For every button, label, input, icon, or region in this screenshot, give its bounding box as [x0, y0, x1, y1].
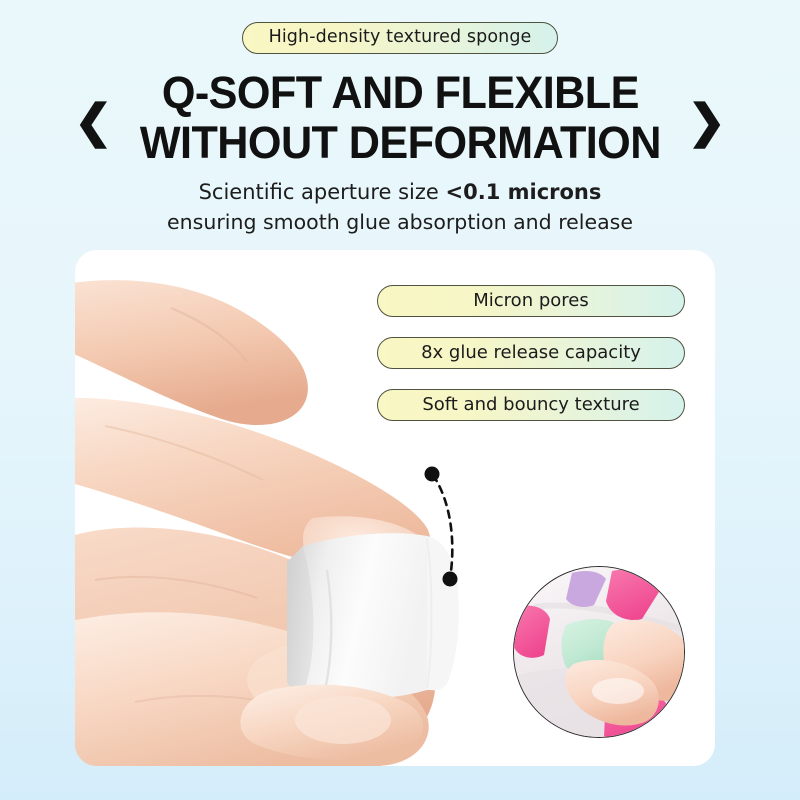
feature-pill-label: Micron pores [473, 292, 588, 310]
thumb-over-sponge-highlight [295, 696, 391, 744]
subtitle-line-2: ensuring smooth glue absorption and rele… [0, 208, 800, 237]
feature-pill-list: Micron pores 8x glue release capacity So… [377, 285, 685, 441]
inset-sponge-in-hand-photo [514, 567, 684, 737]
chevron-left-icon: ❮ [74, 98, 113, 144]
headline-block: ❮ Q-SOFT AND FLEXIBLE WITHOUT DEFORMATIO… [0, 68, 800, 169]
sponge-front-face [301, 533, 427, 700]
subtitle: Scientific aperture size <0.1 microns en… [0, 178, 800, 237]
feature-pill-label: Soft and bouncy texture [422, 396, 639, 414]
feature-pill-micron-pores: Micron pores [377, 285, 685, 317]
feature-pill-glue-release: 8x glue release capacity [377, 337, 685, 369]
headline-line-1: Q-SOFT AND FLEXIBLE [140, 68, 661, 118]
curvature-indicator-arc [415, 460, 485, 600]
subtitle-line-1: Scientific aperture size <0.1 microns [0, 178, 800, 208]
page-title: Q-SOFT AND FLEXIBLE WITHOUT DEFORMATION [140, 68, 661, 169]
feature-pill-soft-bouncy: Soft and bouncy texture [377, 389, 685, 421]
product-badge: High-density textured sponge [242, 22, 559, 54]
headline-line-2: WITHOUT DEFORMATION [140, 118, 661, 168]
feature-pill-label: 8x glue release capacity [421, 344, 641, 362]
subtitle-emphasis: <0.1 microns [446, 180, 602, 204]
inset-finger-highlight [592, 678, 644, 704]
badge-row: High-density textured sponge [0, 22, 800, 54]
arc-dashed-line [433, 475, 452, 578]
subtitle-prefix: Scientific aperture size [199, 180, 446, 204]
arc-dot-top [425, 467, 440, 482]
inset-photo-circle [513, 566, 685, 738]
product-badge-label: High-density textured sponge [269, 29, 532, 47]
arc-dot-bottom [443, 572, 458, 587]
product-marketing-image: High-density textured sponge ❮ Q-SOFT AN… [0, 0, 800, 800]
chevron-right-icon: ❯ [687, 98, 726, 144]
